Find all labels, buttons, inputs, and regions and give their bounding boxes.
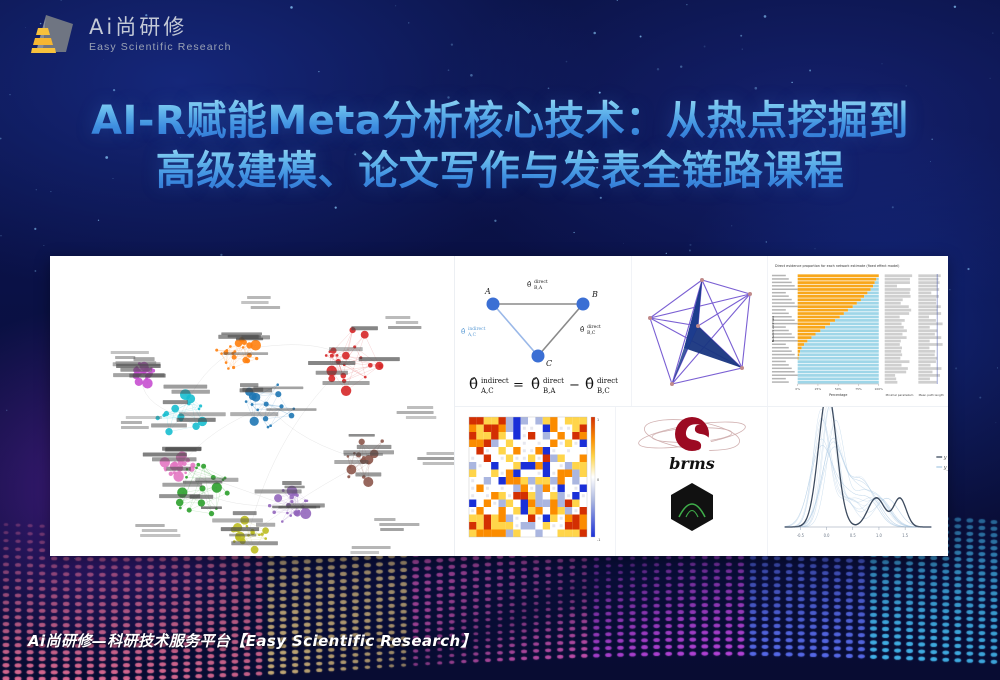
svg-text:Minimal parallelism: Minimal parallelism (886, 393, 914, 397)
svg-text:θ̂: θ̂ (527, 280, 531, 289)
posterior-predictive-check-figure: -0.50.00.51.01.5yy_rep (767, 407, 948, 557)
svg-text:θ̂: θ̂ (461, 327, 465, 336)
svg-text:θ̂: θ̂ (469, 375, 478, 393)
title-line-1: AI-R赋能Meta分析核心技术：从热点挖掘到 (0, 96, 1000, 146)
correlation-heatmap-figure: 10-1 (455, 407, 615, 557)
svg-text:Network estimate: Network estimate (771, 316, 775, 343)
network-graph-icon (50, 256, 454, 556)
svg-text:1.0: 1.0 (876, 532, 882, 537)
svg-text:y: y (943, 454, 947, 461)
svg-text:0.5: 0.5 (850, 532, 856, 537)
svg-text:Mean path length: Mean path length (919, 393, 944, 397)
footer-brand-text: Ai尚研修—科研技术服务平台【Easy Scientific Research】 (28, 630, 728, 651)
svg-text:0.0: 0.0 (824, 532, 830, 537)
stacked-bar-chart-icon: Direct evidence proportion for each netw… (768, 256, 948, 406)
svg-text:-1: -1 (597, 538, 600, 542)
brand-logo[interactable]: Ai尚研修 Easy Scientific Research (16, 12, 232, 56)
network-geometry-figure (631, 256, 767, 406)
svg-text:y_rep: y_rep (943, 464, 948, 471)
figure-collage-panel: A B C θ̂ direct B,A θ̂ direct B,C θ̂ ind… (50, 256, 948, 556)
title-line-2: 高级建模、论文写作与发表全链路课程 (0, 146, 1000, 196)
svg-text:Percentage: Percentage (829, 393, 847, 397)
svg-text:-0.5: -0.5 (797, 532, 805, 537)
svg-text:0: 0 (597, 478, 599, 482)
heatmap-icon: 10-1 (455, 407, 615, 557)
page-title: AI-R赋能Meta分析核心技术：从热点挖掘到 高级建模、论文写作与发表全链路课… (0, 96, 1000, 196)
svg-text:25%: 25% (815, 387, 822, 391)
svg-text:θ̂: θ̂ (531, 375, 540, 393)
svg-text:B,C: B,C (597, 387, 610, 395)
triangle-diagram-icon: A B C θ̂ direct B,A θ̂ direct B,C θ̂ ind… (455, 256, 631, 406)
brand-name-en: Easy Scientific Research (89, 42, 232, 53)
stan-label: brms (669, 454, 715, 473)
svg-text:B,A: B,A (543, 387, 556, 395)
svg-text:indirect: indirect (481, 377, 509, 385)
svg-text:Direct evidence proportion for: Direct evidence proportion for each netw… (775, 264, 900, 268)
polyhedron-network-icon (632, 256, 767, 406)
svg-text:direct: direct (587, 324, 601, 330)
svg-text:1.5: 1.5 (902, 532, 908, 537)
svg-text:θ̂: θ̂ (580, 325, 584, 334)
nma-triangle-figure: A B C θ̂ direct B,A θ̂ direct B,C θ̂ ind… (455, 256, 631, 406)
svg-text:indirect: indirect (468, 327, 486, 332)
svg-text:θ̂: θ̂ (585, 375, 594, 393)
brand-name-cn: Ai尚研修 (89, 17, 232, 38)
svg-text:1: 1 (597, 418, 599, 422)
svg-text:A,C: A,C (480, 387, 494, 395)
svg-text:B,A: B,A (534, 285, 543, 291)
svg-text:A,C: A,C (467, 333, 477, 338)
mountain-book-logo-icon (16, 12, 80, 56)
software-logos: brms (615, 407, 767, 557)
svg-text:0%: 0% (795, 387, 800, 391)
figure-row-top: A B C θ̂ direct B,A θ̂ direct B,C θ̂ ind… (455, 256, 948, 407)
svg-text:B: B (591, 290, 598, 299)
svg-text:=: = (513, 378, 524, 393)
stan-brms-logo-icon: brms (616, 407, 767, 557)
figure-grid: A B C θ̂ direct B,A θ̂ direct B,C θ̂ ind… (454, 256, 948, 556)
svg-text:direct: direct (543, 377, 564, 385)
svg-text:direct: direct (534, 279, 548, 285)
svg-text:B,C: B,C (587, 330, 596, 336)
coauthorship-network-figure (50, 256, 454, 556)
figure-row-bottom: 10-1 brms (455, 407, 948, 557)
direct-evidence-proportion-figure: Direct evidence proportion for each netw… (767, 256, 948, 406)
svg-text:direct: direct (597, 377, 618, 385)
brand-text: Ai尚研修 Easy Scientific Research (89, 15, 232, 53)
svg-text:A: A (484, 287, 491, 296)
density-plot-icon: -0.50.00.51.01.5yy_rep (768, 407, 948, 557)
svg-text:C: C (546, 359, 552, 368)
svg-text:100%: 100% (875, 387, 884, 391)
svg-text:−: − (569, 378, 580, 393)
svg-text:75%: 75% (855, 387, 862, 391)
svg-text:50%: 50% (835, 387, 842, 391)
